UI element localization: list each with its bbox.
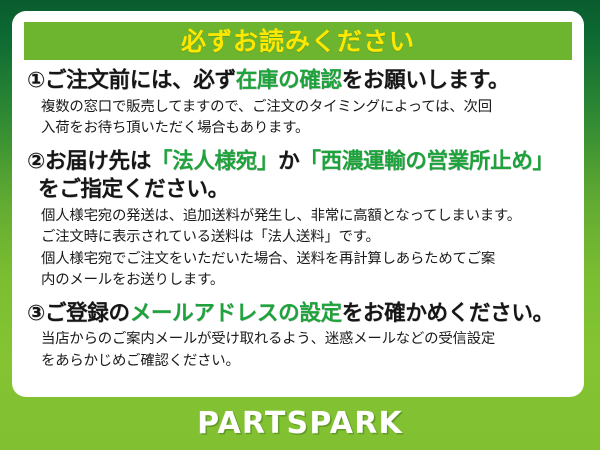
notice-item-2-highlight-1: 「法人様宛」 — [151, 149, 278, 174]
notice-banner: 必ずお読みください ①ご注文前には、必ず在庫の確認をお願いします。 複数の窓口で… — [0, 0, 600, 450]
notice-item-2-headline-line-2: をご指定ください。 — [27, 176, 570, 205]
brand-footer: PARTSPARK — [0, 397, 600, 450]
notice-title-bar: 必ずお読みください — [24, 22, 572, 60]
notice-item-3-marker: ③ — [27, 301, 45, 326]
notice-item-2-headline-line-1: ②お届け先は「法人様宛」か「西濃運輸の営業所止め」 — [27, 148, 570, 177]
notice-item-3-text-b: をお確かめください。 — [342, 301, 554, 326]
notice-item-1-headline: ①ご注文前には、必ず在庫の確認をお願いします。 — [27, 67, 570, 96]
notice-item-1-marker: ① — [27, 68, 45, 93]
notice-item-2-detail-line-3: 個人様宅宛でご注文をいただいた場合、送料を再計算しあらためてご案 — [41, 249, 570, 269]
notice-item-3-detail-line-1: 当店からのご案内メールが受け取れるよう、迷惑メールなどの受信設定 — [41, 329, 570, 349]
notice-item-2-detail-line-4: 内のメールをお送りします。 — [41, 270, 570, 290]
notice-item-3: ③ご登録のメールアドレスの設定をお確かめください。 当店からのご案内メールが受け… — [27, 300, 570, 372]
notice-item-2-detail-line-2: ご注文時に表示されている送料は「法人送料」です。 — [41, 227, 570, 247]
notice-item-3-highlight: メールアドレスの設定 — [130, 301, 342, 326]
notice-item-2-detail-line-1: 個人様宅宛の発送は、追加送料が発生し、非常に高額となってしまいます。 — [41, 206, 570, 226]
notice-item-3-text-a: ご登録の — [45, 301, 130, 326]
notice-item-2-text-a: お届け先は — [45, 149, 151, 174]
notice-item-2-highlight-2: 「西濃運輸の営業所止め」 — [299, 149, 553, 174]
notice-item-3-detail-line-2: をあらかじめご確認ください。 — [41, 351, 570, 371]
notice-item-2-text-b: か — [278, 149, 299, 174]
notice-item-1: ①ご注文前には、必ず在庫の確認をお願いします。 複数の窓口で販売してますので、ご… — [27, 67, 570, 139]
notice-item-3-headline: ③ご登録のメールアドレスの設定をお確かめください。 — [27, 300, 570, 329]
notice-item-1-detail-line-2: 入荷をお待ち頂いただく場合もあります。 — [41, 118, 570, 138]
notice-item-2-marker: ② — [27, 149, 45, 174]
page-title: 必ずお読みください — [181, 29, 415, 54]
notice-card: 必ずお読みください ①ご注文前には、必ず在庫の確認をお願いします。 複数の窓口で… — [12, 11, 584, 397]
brand-wordmark: PARTSPARK — [197, 409, 403, 439]
notice-item-1-text-a: ご注文前には、必ず — [45, 68, 236, 93]
notice-item-1-text-b: をお願いします。 — [342, 68, 509, 93]
notice-content: ①ご注文前には、必ず在庫の確認をお願いします。 複数の窓口で販売してますので、ご… — [24, 60, 572, 371]
notice-item-2: ②お届け先は「法人様宛」か「西濃運輸の営業所止め」 をご指定ください。 個人様宅… — [27, 148, 570, 291]
notice-item-1-highlight: 在庫の確認 — [236, 68, 342, 93]
notice-item-1-detail-line-1: 複数の窓口で販売してますので、ご注文のタイミングによっては、次回 — [41, 97, 570, 117]
